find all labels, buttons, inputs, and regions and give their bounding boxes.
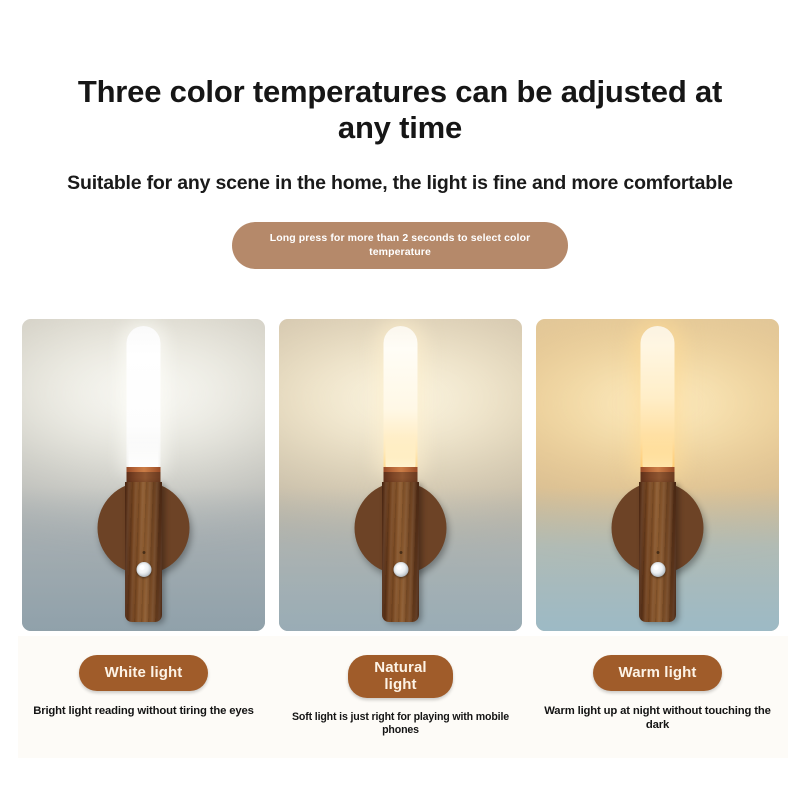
motion-sensor-button-white[interactable] (136, 562, 151, 577)
instruction-badge-text: Long press for more than 2 seconds to se… (254, 232, 546, 258)
product-photo-warm-light (536, 319, 779, 631)
page-subheadline: Suitable for any scene in the home, the … (30, 172, 770, 195)
led-tube-warm (641, 326, 675, 469)
product-photo-row (22, 319, 780, 631)
wooden-stem-warm (639, 482, 676, 622)
product-photo-white-light (22, 319, 265, 631)
mode-label-pill-white-light: White light (79, 655, 209, 691)
led-hotspot-warm (643, 435, 673, 469)
mode-label-natural-light: Natural light (374, 660, 426, 693)
mode-label-pill-warm-light: Warm light (593, 655, 723, 691)
mode-column-warm-light: Warm light Warm light up at night withou… (536, 655, 779, 737)
screw-dot-icon (399, 551, 402, 554)
led-hotspot-natural (386, 435, 416, 469)
screw-dot-icon (142, 551, 145, 554)
mode-label-white-light: White light (105, 665, 183, 682)
mode-column-natural-light: Natural light Soft light is just right f… (279, 655, 522, 737)
screw-dot-icon (656, 551, 659, 554)
led-tube-white (127, 326, 161, 469)
led-hotspot-white (129, 435, 159, 469)
wooden-stem-white (125, 482, 162, 622)
mode-caption-row: White light Bright light reading without… (22, 655, 780, 737)
mode-column-white-light: White light Bright light reading without… (22, 655, 265, 737)
motion-sensor-button-natural[interactable] (393, 562, 408, 577)
instruction-badge: Long press for more than 2 seconds to se… (232, 222, 568, 269)
mode-caption-warm-light: Warm light up at night without touching … (542, 704, 774, 732)
led-tube-natural (384, 326, 418, 469)
mode-label-pill-natural-light: Natural light (348, 655, 452, 698)
motion-sensor-button-warm[interactable] (650, 562, 665, 577)
lamp-assembly-warm (536, 319, 779, 631)
product-feature-page: Three color temperatures can be adjusted… (0, 0, 800, 800)
lamp-assembly-white (22, 319, 265, 631)
mode-caption-white-light: Bright light reading without tiring the … (28, 704, 260, 718)
mode-caption-natural-light: Soft light is just right for playing wit… (279, 711, 522, 737)
page-headline: Three color temperatures can be adjusted… (50, 74, 750, 147)
mode-label-warm-light: Warm light (619, 665, 697, 682)
lamp-assembly-natural (279, 319, 522, 631)
product-photo-natural-light (279, 319, 522, 631)
wooden-stem-natural (382, 482, 419, 622)
